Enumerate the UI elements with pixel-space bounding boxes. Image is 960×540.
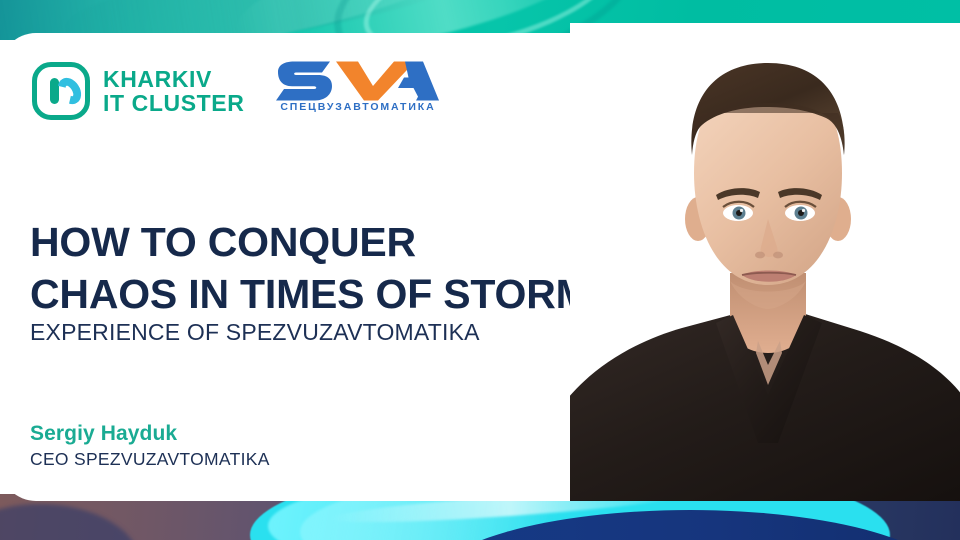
- speaker-block: Sergiy Hayduk CEO SPEZVUZAVTOMATIKA: [30, 422, 270, 470]
- headline-line-2: CHAOS IN TIMES OF STORM: [30, 268, 670, 320]
- sva-wordmark-icon: [274, 61, 439, 101]
- presentation-slide: KHARKIV IT CLUSTER СПЕЦВУЗА: [0, 0, 960, 540]
- content-card: KHARKIV IT CLUSTER СПЕЦВУЗА: [0, 33, 960, 501]
- kharkiv-logo-line-1: KHARKIV: [103, 67, 244, 91]
- navy-wave-left: [0, 504, 140, 540]
- sva-subtitle: СПЕЦВУЗАВТОМАТИКА: [276, 101, 439, 113]
- speaker-name: Sergiy Hayduk: [30, 422, 270, 446]
- kharkiv-it-cluster-mark-icon: [32, 62, 90, 120]
- kharkiv-it-cluster-wordmark: KHARKIV IT CLUSTER: [103, 67, 244, 115]
- page-subtitle: EXPERIENCE OF SPEZVUZAVTOMATIKA: [30, 319, 480, 346]
- page-title: HOW TO CONQUER CHAOS IN TIMES OF STORM: [30, 216, 670, 320]
- speaker-role: CEO SPEZVUZAVTOMATIKA: [30, 449, 270, 470]
- logo-row: KHARKIV IT CLUSTER СПЕЦВУЗА: [32, 61, 439, 121]
- sva-logo: СПЕЦВУЗАВТОМАТИКА: [274, 61, 439, 121]
- headline-line-1: HOW TO CONQUER: [30, 216, 670, 268]
- kharkiv-logo-line-2: IT CLUSTER: [103, 91, 244, 115]
- kharkiv-it-cluster-logo: KHARKIV IT CLUSTER: [32, 62, 244, 120]
